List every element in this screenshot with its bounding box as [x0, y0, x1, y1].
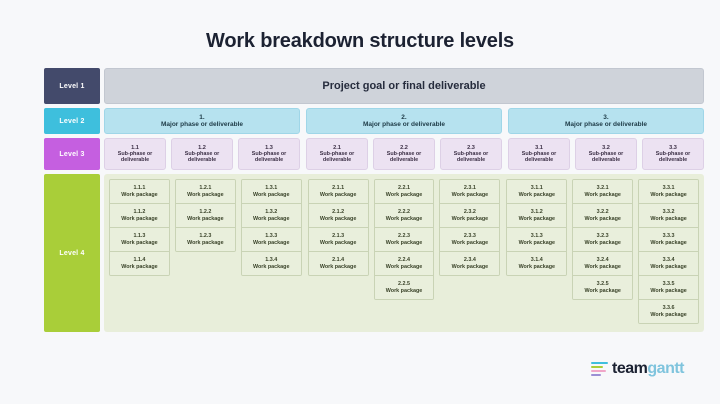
subphase-box[interactable]: 1.3Sub-phase or deliverable	[238, 138, 300, 170]
work-package-label: Work package	[452, 216, 488, 222]
work-package-label: Work package	[320, 264, 356, 270]
work-package-box[interactable]: 2.3.2Work package	[440, 204, 499, 228]
phase-label: Major phase or deliverable	[161, 121, 243, 128]
work-package-box[interactable]: 3.1.1Work package	[507, 180, 566, 204]
subphase-label: Sub-phase or deliverable	[643, 151, 703, 163]
subphase-group: 1.1Sub-phase or deliverable1.2Sub-phase …	[104, 138, 300, 170]
work-package-label: Work package	[452, 240, 488, 246]
work-package-box[interactable]: 2.1.1Work package	[309, 180, 368, 204]
subphase-label: Sub-phase or deliverable	[509, 151, 569, 163]
work-package-box[interactable]: 3.2.1Work package	[573, 180, 632, 204]
phase-number: 3.	[603, 114, 608, 121]
work-package-box[interactable]: 3.1.3Work package	[507, 228, 566, 252]
work-package-box[interactable]: 1.3.4Work package	[242, 252, 301, 275]
subphase-label: Sub-phase or deliverable	[307, 151, 367, 163]
phase-label: Major phase or deliverable	[565, 121, 647, 128]
work-package-box[interactable]: 1.2.3Work package	[176, 228, 235, 251]
subphase-group: 3.1Sub-phase or deliverable3.2Sub-phase …	[508, 138, 704, 170]
subphase-box[interactable]: 2.2Sub-phase or deliverable	[373, 138, 435, 170]
work-package-box[interactable]: 2.2.3Work package	[375, 228, 434, 252]
subphase-group: 2.1Sub-phase or deliverable2.2Sub-phase …	[306, 138, 502, 170]
work-package-label: Work package	[187, 192, 223, 198]
work-package-box[interactable]: 3.3.3Work package	[639, 228, 698, 252]
work-package-label: Work package	[584, 240, 620, 246]
work-package-label: Work package	[253, 264, 289, 270]
work-package-box[interactable]: 3.3.4Work package	[639, 252, 698, 276]
work-package-box[interactable]: 1.1.2Work package	[110, 204, 169, 228]
work-package-label: Work package	[452, 264, 488, 270]
work-package-box[interactable]: 2.1.4Work package	[309, 252, 368, 275]
work-package-label: Work package	[320, 240, 356, 246]
work-package-label: Work package	[519, 264, 555, 270]
level-4-area: 1.1.1Work package1.1.2Work package1.1.3W…	[104, 174, 704, 332]
teamgantt-bars-icon	[591, 362, 608, 377]
work-package-box[interactable]: 2.3.4Work package	[440, 252, 499, 275]
work-package-label: Work package	[650, 288, 686, 294]
work-package-box[interactable]: 3.3.2Work package	[639, 204, 698, 228]
work-package-box[interactable]: 2.2.1Work package	[375, 180, 434, 204]
subphase-label: Sub-phase or deliverable	[374, 151, 434, 163]
work-package-column: 3.3.1Work package3.3.2Work package3.3.3W…	[638, 179, 699, 324]
work-package-column: 2.3.1Work package2.3.2Work package2.3.3W…	[439, 179, 500, 276]
work-package-box[interactable]: 3.2.4Work package	[573, 252, 632, 276]
work-package-box[interactable]: 2.3.1Work package	[440, 180, 499, 204]
work-package-box[interactable]: 3.2.5Work package	[573, 276, 632, 299]
work-package-box[interactable]: 2.2.2Work package	[375, 204, 434, 228]
work-package-label: Work package	[253, 240, 289, 246]
work-package-group: 3.1.1Work package3.1.2Work package3.1.3W…	[506, 179, 699, 324]
diagram-canvas: Work breakdown structure levels Level 1 …	[0, 0, 720, 404]
work-package-label: Work package	[121, 216, 157, 222]
work-package-label: Work package	[650, 312, 686, 318]
work-package-box[interactable]: 2.2.5Work package	[375, 276, 434, 299]
work-package-box[interactable]: 1.1.3Work package	[110, 228, 169, 252]
work-package-label: Work package	[650, 192, 686, 198]
phase-box[interactable]: 2.Major phase or deliverable	[306, 108, 502, 134]
work-package-label: Work package	[320, 216, 356, 222]
logo-team-text: team	[612, 360, 647, 377]
work-package-label: Work package	[650, 264, 686, 270]
work-package-label: Work package	[519, 216, 555, 222]
work-package-box[interactable]: 1.3.3Work package	[242, 228, 301, 252]
phase-number: 1.	[199, 114, 204, 121]
phase-box[interactable]: 1.Major phase or deliverable	[104, 108, 300, 134]
work-package-label: Work package	[650, 216, 686, 222]
work-package-box[interactable]: 3.3.5Work package	[639, 276, 698, 300]
work-package-label: Work package	[121, 240, 157, 246]
work-package-label: Work package	[386, 216, 422, 222]
subphase-box[interactable]: 3.3Sub-phase or deliverable	[642, 138, 704, 170]
work-package-box[interactable]: 1.1.4Work package	[110, 252, 169, 275]
work-package-box[interactable]: 1.2.1Work package	[176, 180, 235, 204]
work-package-box[interactable]: 2.1.2Work package	[309, 204, 368, 228]
work-package-box[interactable]: 2.2.4Work package	[375, 252, 434, 276]
phase-box[interactable]: 3.Major phase or deliverable	[508, 108, 704, 134]
work-package-label: Work package	[519, 240, 555, 246]
level-1-row: Level 1 Project goal or final deliverabl…	[44, 68, 704, 104]
work-package-label: Work package	[187, 216, 223, 222]
subphase-box[interactable]: 2.1Sub-phase or deliverable	[306, 138, 368, 170]
work-package-column: 2.2.1Work package2.2.2Work package2.2.3W…	[374, 179, 435, 300]
level-4-badge: Level 4	[44, 174, 100, 332]
work-package-box[interactable]: 1.3.1Work package	[242, 180, 301, 204]
logo-wordmark: teamgantt	[612, 360, 684, 378]
subphase-box[interactable]: 1.1Sub-phase or deliverable	[104, 138, 166, 170]
project-goal-label: Project goal or final deliverable	[322, 80, 485, 92]
work-package-column: 3.1.1Work package3.1.2Work package3.1.3W…	[506, 179, 567, 276]
work-package-box[interactable]: 3.1.4Work package	[507, 252, 566, 275]
subphase-label: Sub-phase or deliverable	[576, 151, 636, 163]
work-package-group: 1.1.1Work package1.1.2Work package1.1.3W…	[109, 179, 302, 276]
diagram-frame: Work breakdown structure levels Level 1 …	[8, 8, 712, 396]
work-package-label: Work package	[386, 264, 422, 270]
work-package-column: 3.2.1Work package3.2.2Work package3.2.3W…	[572, 179, 633, 300]
work-package-label: Work package	[584, 216, 620, 222]
work-package-box[interactable]: 2.3.3Work package	[440, 228, 499, 252]
work-package-box[interactable]: 3.3.1Work package	[639, 180, 698, 204]
work-package-label: Work package	[253, 192, 289, 198]
wbs-chart: Level 1 Project goal or final deliverabl…	[44, 68, 704, 332]
work-package-label: Work package	[452, 192, 488, 198]
level-3-row: Level 3 1.1Sub-phase or deliverable1.2Su…	[44, 138, 704, 170]
level-3-badge: Level 3	[44, 138, 100, 170]
level-2-badge: Level 2	[44, 108, 100, 134]
subphase-label: Sub-phase or deliverable	[441, 151, 501, 163]
work-package-box[interactable]: 3.2.3Work package	[573, 228, 632, 252]
work-package-column: 1.2.1Work package1.2.2Work package1.2.3W…	[175, 179, 236, 252]
level-4-row: Level 4 1.1.1Work package1.1.2Work packa…	[44, 174, 704, 332]
subphase-box[interactable]: 1.2Sub-phase or deliverable	[171, 138, 233, 170]
work-package-column: 1.1.1Work package1.1.2Work package1.1.3W…	[109, 179, 170, 276]
work-package-box[interactable]: 3.3.6Work package	[639, 300, 698, 323]
work-package-label: Work package	[386, 288, 422, 294]
work-package-box[interactable]: 3.2.2Work package	[573, 204, 632, 228]
work-package-box[interactable]: 1.3.2Work package	[242, 204, 301, 228]
level-3-boxes: 1.1Sub-phase or deliverable1.2Sub-phase …	[104, 138, 704, 170]
subphase-box[interactable]: 3.2Sub-phase or deliverable	[575, 138, 637, 170]
subphase-label: Sub-phase or deliverable	[172, 151, 232, 163]
subphase-label: Sub-phase or deliverable	[239, 151, 299, 163]
work-package-label: Work package	[121, 192, 157, 198]
work-package-column: 2.1.1Work package2.1.2Work package2.1.3W…	[308, 179, 369, 276]
logo-gantt-text: gantt	[647, 360, 684, 377]
work-package-label: Work package	[121, 264, 157, 270]
work-package-label: Work package	[253, 216, 289, 222]
level-2-boxes: 1.Major phase or deliverable2.Major phas…	[104, 108, 704, 134]
work-package-box[interactable]: 1.1.1Work package	[110, 180, 169, 204]
work-package-label: Work package	[386, 240, 422, 246]
work-package-label: Work package	[519, 192, 555, 198]
work-package-box[interactable]: 2.1.3Work package	[309, 228, 368, 252]
subphase-box[interactable]: 2.3Sub-phase or deliverable	[440, 138, 502, 170]
work-package-label: Work package	[584, 192, 620, 198]
work-package-label: Work package	[187, 240, 223, 246]
work-package-group: 2.1.1Work package2.1.2Work package2.1.3W…	[308, 179, 501, 300]
work-package-box[interactable]: 3.1.2Work package	[507, 204, 566, 228]
work-package-label: Work package	[386, 192, 422, 198]
work-package-label: Work package	[650, 240, 686, 246]
page-title: Work breakdown structure levels	[8, 30, 712, 53]
teamgantt-logo: teamgantt	[591, 360, 684, 378]
level-1-bar: Project goal or final deliverable	[104, 68, 704, 104]
work-package-column: 1.3.1Work package1.3.2Work package1.3.3W…	[241, 179, 302, 276]
subphase-label: Sub-phase or deliverable	[105, 151, 165, 163]
subphase-box[interactable]: 3.1Sub-phase or deliverable	[508, 138, 570, 170]
work-package-label: Work package	[584, 288, 620, 294]
work-package-box[interactable]: 1.2.2Work package	[176, 204, 235, 228]
level-2-row: Level 2 1.Major phase or deliverable2.Ma…	[44, 108, 704, 134]
phase-number: 2.	[401, 114, 406, 121]
work-package-label: Work package	[320, 192, 356, 198]
phase-label: Major phase or deliverable	[363, 121, 445, 128]
work-package-label: Work package	[584, 264, 620, 270]
work-package-groups: 1.1.1Work package1.1.2Work package1.1.3W…	[109, 179, 699, 324]
level-1-badge: Level 1	[44, 68, 100, 104]
